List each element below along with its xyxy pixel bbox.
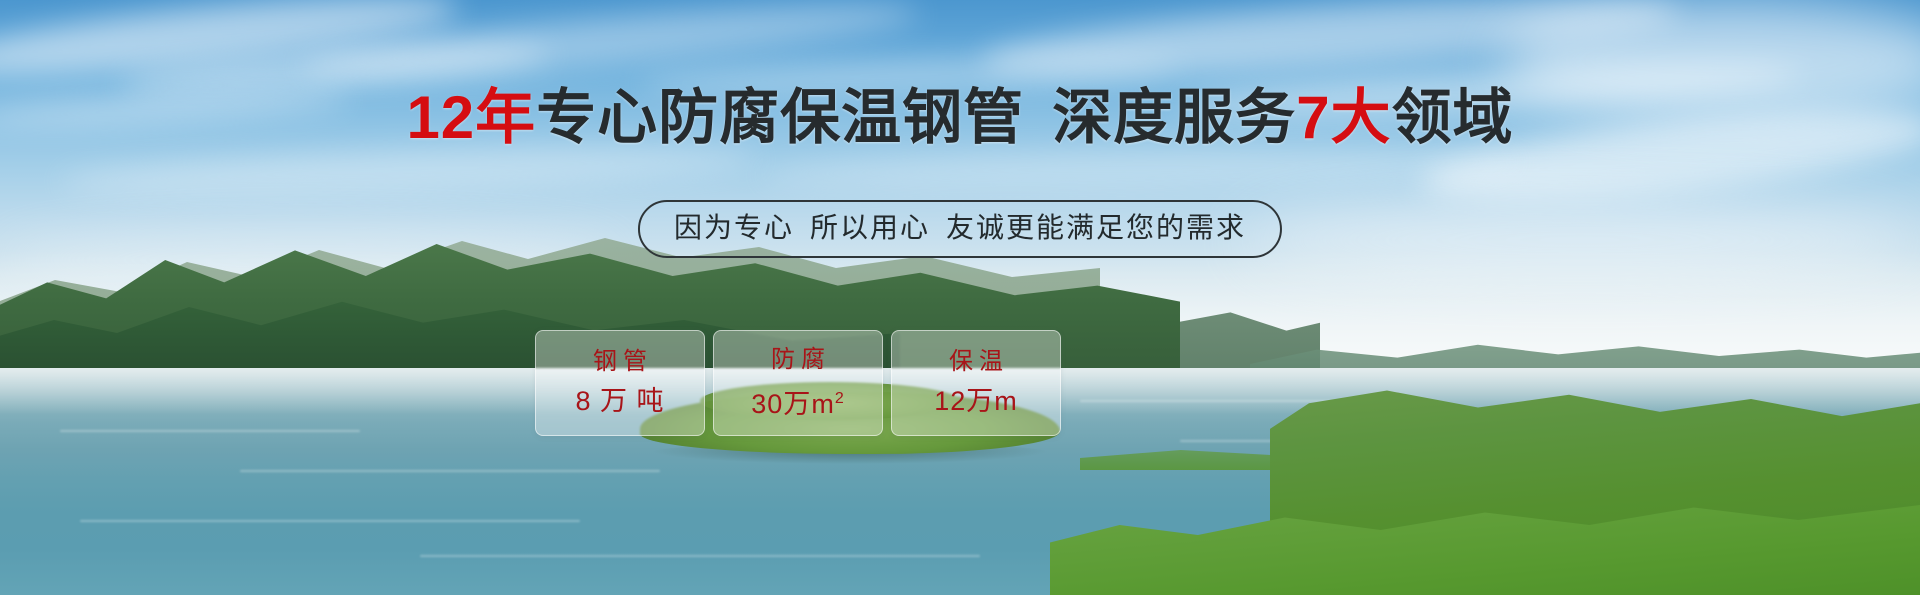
stat-card-anticorrosion: 防腐 30万m2	[713, 330, 883, 436]
banner-content: 12年专心防腐保温钢管深度服务7大领域 因为专心所以用心友诚更能满足您的需求 钢…	[0, 0, 1920, 595]
stat-card-insulation: 保温 12万m	[891, 330, 1061, 436]
subtitle-segment-1: 因为专心	[674, 212, 794, 243]
stat-card-value: 12万m	[934, 382, 1018, 420]
stat-card-value: 30万m2	[751, 380, 844, 423]
subtitle-pill: 因为专心所以用心友诚更能满足您的需求	[638, 200, 1282, 258]
stat-card-value-text: 8 万 吨	[575, 386, 664, 416]
stat-card-title: 钢管	[587, 346, 653, 378]
stat-card-title: 保温	[943, 346, 1009, 378]
headline-part5: 领域	[1392, 84, 1514, 151]
stat-card-value: 8 万 吨	[575, 382, 664, 420]
stat-card-group: 钢管 8 万 吨 防腐 30万m2 保温 12万m	[535, 330, 1061, 436]
stat-card-value-superscript: 2	[835, 390, 845, 407]
stat-card-value-text: 12万m	[934, 386, 1018, 416]
stat-card-title: 防腐	[765, 344, 831, 376]
headline: 12年专心防腐保温钢管深度服务7大领域	[0, 86, 1920, 150]
headline-part3: 深度服务	[1052, 84, 1296, 151]
stat-card-steel-pipe: 钢管 8 万 吨	[535, 330, 705, 436]
subtitle-segment-3: 友诚更能满足您的需求	[946, 212, 1246, 243]
headline-years-highlight: 12年	[406, 84, 536, 151]
stat-card-value-text: 30万m	[751, 389, 835, 419]
promo-banner: 12年专心防腐保温钢管深度服务7大领域 因为专心所以用心友诚更能满足您的需求 钢…	[0, 0, 1920, 595]
headline-fields-highlight: 7大	[1296, 84, 1391, 151]
subtitle-segment-2: 所以用心	[810, 212, 930, 243]
headline-part2: 专心防腐保温钢管	[536, 84, 1024, 151]
